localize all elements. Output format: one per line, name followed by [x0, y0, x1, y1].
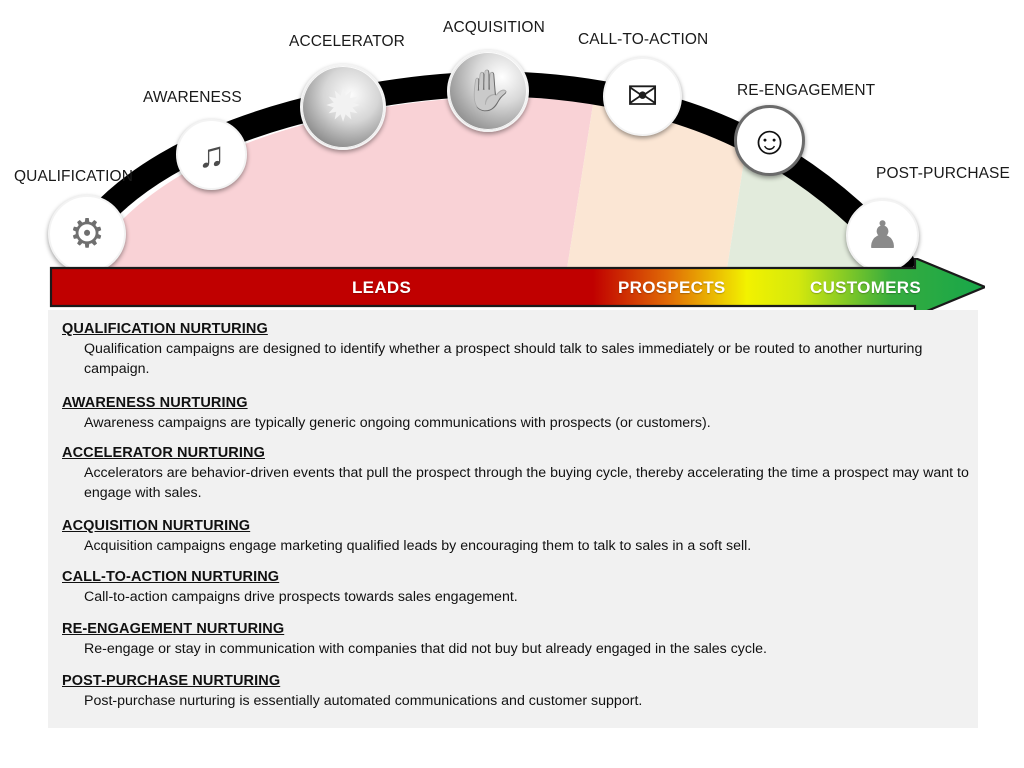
- bar-label-leads: LEADS: [352, 278, 411, 298]
- description-body: Post-purchase nurturing is essentially a…: [84, 692, 642, 712]
- stage-label-accelerator: ACCELERATOR: [289, 33, 405, 51]
- burst-icon: ✹: [325, 85, 362, 129]
- description-body: Qualification campaigns are designed to …: [84, 340, 974, 379]
- description-post-purchase: POST-PURCHASE NURTURING Post-purchase nu…: [62, 673, 642, 712]
- description-accelerator: ACCELERATOR NURTURING Accelerators are b…: [62, 445, 974, 503]
- bar-label-customers: CUSTOMERS: [810, 278, 921, 298]
- stage-label-call-to-action: CALL-TO-ACTION: [578, 31, 708, 49]
- handshake-icon: ✋: [463, 71, 513, 111]
- description-heading: RE-ENGAGEMENT NURTURING: [62, 621, 767, 637]
- description-heading: POST-PURCHASE NURTURING: [62, 673, 642, 689]
- stage-label-awareness: AWARENESS: [143, 89, 242, 107]
- description-body: Awareness campaigns are typically generi…: [84, 414, 711, 434]
- stage-node-re-engagement[interactable]: ☺: [734, 105, 805, 176]
- description-heading: ACCELERATOR NURTURING: [62, 445, 974, 461]
- description-panel: QUALIFICATION NURTURING Qualification ca…: [48, 310, 978, 728]
- description-heading: QUALIFICATION NURTURING: [62, 321, 974, 337]
- face-icon: ☺: [749, 121, 790, 161]
- description-acquisition: ACQUISITION NURTURING Acquisition campai…: [62, 518, 751, 557]
- description-body: Accelerators are behavior-driven events …: [84, 464, 974, 503]
- stage-label-post-purchase: POST-PURCHASE: [876, 165, 1010, 183]
- stage-node-acquisition[interactable]: ✋: [447, 50, 529, 132]
- stage-node-call-to-action[interactable]: ✉: [603, 57, 682, 136]
- headphones-icon: ♫: [198, 137, 225, 173]
- bar-label-prospects: PROSPECTS: [618, 278, 726, 298]
- stage-label-re-engagement: RE-ENGAGEMENT: [737, 82, 875, 100]
- megaphone-icon: ✉: [627, 78, 659, 116]
- gears-icon: ⚙: [69, 214, 105, 254]
- stage-node-awareness[interactable]: ♫: [176, 119, 247, 190]
- description-body: Call-to-action campaigns drive prospects…: [84, 588, 518, 608]
- description-heading: ACQUISITION NURTURING: [62, 518, 751, 534]
- stage-node-accelerator[interactable]: ✹: [300, 64, 386, 150]
- description-qualification: QUALIFICATION NURTURING Qualification ca…: [62, 321, 974, 379]
- description-heading: AWARENESS NURTURING: [62, 395, 711, 411]
- description-heading: CALL-TO-ACTION NURTURING: [62, 569, 518, 585]
- description-body: Re-engage or stay in communication with …: [84, 640, 767, 660]
- funnel-diagram: QUALIFICATION AWARENESS ACCELERATOR ACQU…: [0, 0, 1024, 768]
- support-agent-icon: ♟: [865, 217, 899, 255]
- stage-label-qualification: QUALIFICATION: [14, 168, 133, 186]
- description-re-engagement: RE-ENGAGEMENT NURTURING Re-engage or sta…: [62, 621, 767, 660]
- description-call-to-action: CALL-TO-ACTION NURTURING Call-to-action …: [62, 569, 518, 608]
- description-body: Acquisition campaigns engage marketing q…: [84, 537, 751, 557]
- stage-label-acquisition: ACQUISITION: [443, 19, 545, 37]
- description-awareness: AWARENESS NURTURING Awareness campaigns …: [62, 395, 711, 434]
